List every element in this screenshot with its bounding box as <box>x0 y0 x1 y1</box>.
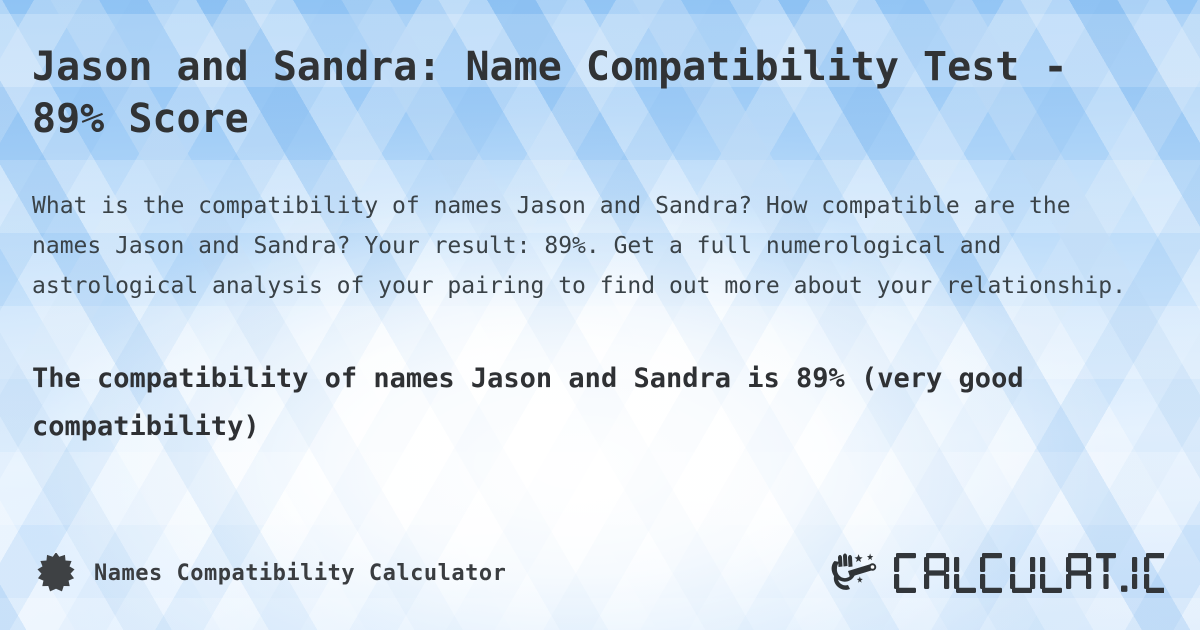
social-share-card: Jason and Sandra: Name Compatibility Tes… <box>0 0 1200 630</box>
starburst-icon <box>36 553 76 593</box>
compatibility-result-statement: The compatibility of names Jason and San… <box>32 355 1162 451</box>
intro-description: What is the compatibility of names Jason… <box>32 186 1152 306</box>
card-content: Jason and Sandra: Name Compatibility Tes… <box>0 0 1200 630</box>
site-logo-text <box>892 551 1164 595</box>
footer-brand-label: Names Compatibility Calculator <box>94 561 506 586</box>
site-logo[interactable] <box>828 551 1164 595</box>
footer-brand: Names Compatibility Calculator <box>36 553 506 593</box>
page-title: Jason and Sandra: Name Compatibility Tes… <box>32 41 1162 145</box>
card-footer: Names Compatibility Calculator <box>0 544 1200 602</box>
magic-wand-hand-icon <box>828 552 884 594</box>
